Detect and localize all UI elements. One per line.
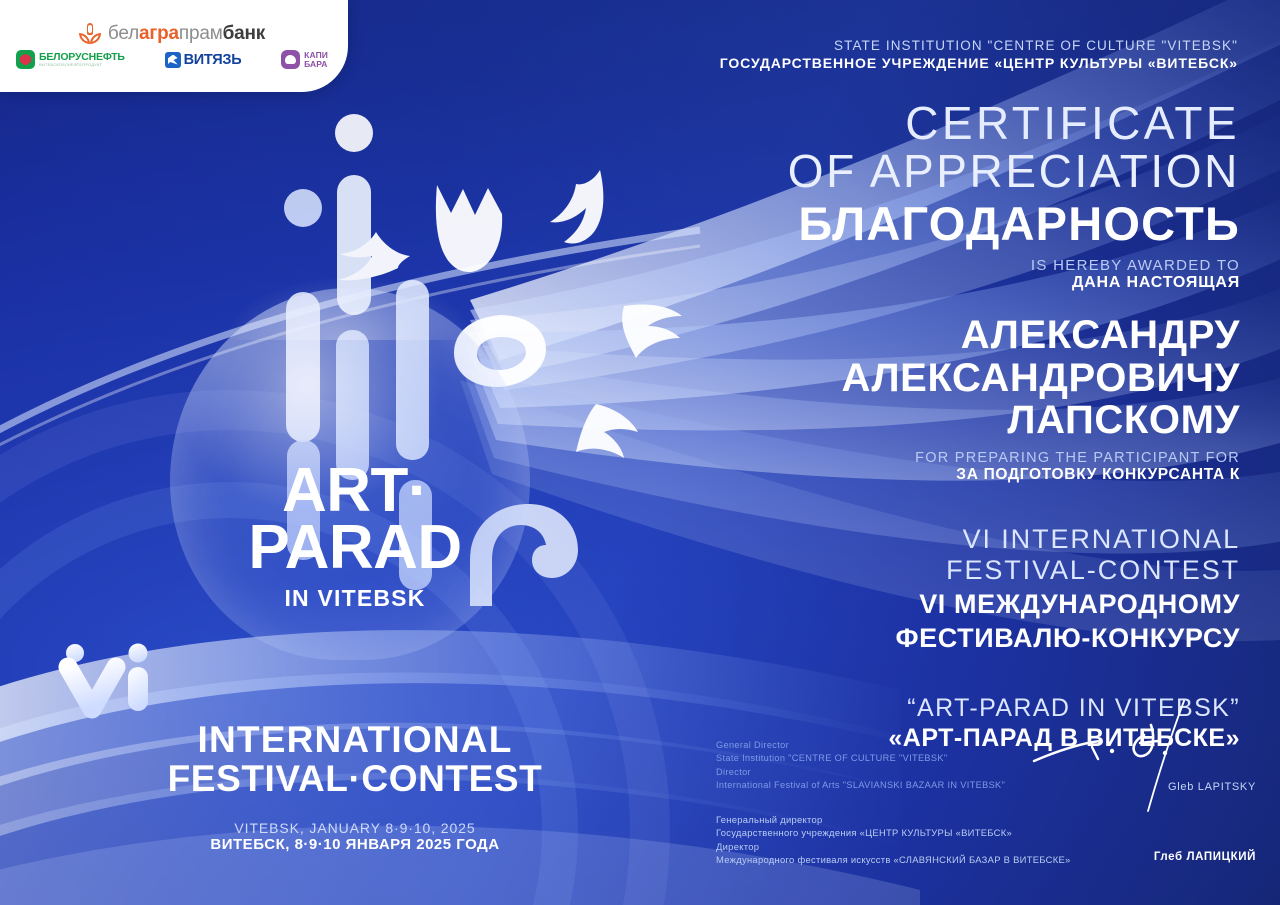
recipient-name-line1: АЛЕКСАНДРУ (600, 314, 1240, 356)
institution-name-en: STATE INSTITUTION "CENTRE OF CULTURE "VI… (720, 38, 1238, 55)
event-date-block: VITEBSK, JANUARY 8·9·10, 2025 ВИТЕБСК, 8… (120, 820, 590, 853)
recipient-name: АЛЕКСАНДРУ АЛЕКСАНДРОВИЧУ ЛАПСКОМУ (600, 314, 1240, 441)
festival-title-line1: INTERNATIONAL (120, 720, 590, 759)
festival-name-en: “ART-PARAD IN VITEBSK” (600, 693, 1240, 723)
signatory-title-en-line2: State Institution "CENTRE OF CULTURE "VI… (716, 752, 1256, 765)
wheat-leaf-icon (79, 23, 101, 45)
awarded-to-en: IS HEREBY AWARDED TO (600, 257, 1240, 274)
signatory-name-en: Gleb LAPITSKY (1168, 781, 1256, 793)
event-date-ru: ВИТЕБСК, 8·9·10 ЯНВАРЯ 2025 ГОДА (120, 836, 590, 853)
kapibara-icon (281, 50, 300, 69)
art-parad-logo: ART· PARAD IN VITEBSK (205, 462, 505, 612)
festival-ru-line2: ФЕСТИВАЛЮ-КОНКУРСУ (600, 623, 1240, 654)
festival-title-line2: FESTIVAL·CONTEST (120, 759, 590, 798)
signatory-name-ru: Глеб ЛАПИЦКИЙ (1154, 851, 1256, 863)
event-date-en: VITEBSK, JANUARY 8·9·10, 2025 (120, 820, 590, 836)
signatory-title-en-line1: General Director (716, 739, 1256, 752)
award-reason-ru: ЗА ПОДГОТОВКУ КОНКУРСАНТА К (600, 466, 1240, 484)
awarded-to-ru: ДАНА НАСТОЯЩАЯ (600, 274, 1240, 292)
vityaz-icon (165, 52, 181, 68)
balloon-highlight (225, 250, 475, 340)
signatory-title-en-line3: Director (716, 766, 1256, 779)
sponsor-belagroprombank: белаграпрамбанк (14, 23, 330, 45)
award-title-en-line2: OF APPRECIATION (600, 148, 1240, 196)
festival-en-line1: VI INTERNATIONAL (600, 524, 1240, 555)
belorusneft-icon (16, 50, 35, 69)
recipient-name-line2: АЛЕКСАНДРОВИЧУ (600, 357, 1240, 399)
sponsor-vityaz: ВИТЯЗЬ (165, 52, 242, 68)
sponsor-vityaz-label: ВИТЯЗЬ (184, 52, 242, 68)
festival-title-lockup: INTERNATIONAL FESTIVAL·CONTEST (120, 720, 590, 798)
roman-numeral-vi-icon (58, 643, 168, 721)
signatory-title-ru-line1: Генеральный директор (716, 813, 1256, 827)
award-title-en-line1: CERTIFICATE (600, 100, 1240, 148)
certificate-canvas: белаграпрамбанк БЕЛОРУСНЕФТЬ ВИТЕБСКОБЛН… (0, 0, 1280, 905)
institution-header: STATE INSTITUTION "CENTRE OF CULTURE "VI… (720, 38, 1238, 72)
institution-name-ru: ГОСУДАРСТВЕННОЕ УЧРЕЖДЕНИЕ «ЦЕНТР КУЛЬТУ… (720, 55, 1238, 73)
sponsor-kapibara: КАПИ БАРА (281, 50, 328, 69)
sponsor-belagroprombank-label: белаграпрамбанк (108, 23, 265, 45)
sponsor-belorusneft: БЕЛОРУСНЕФТЬ ВИТЕБСКОБЛНЕФТЕПРОДУКТ (16, 50, 125, 69)
logo-art: ART· (205, 462, 505, 519)
award-title-ru: БЛАГОДАРНОСТЬ (600, 198, 1240, 250)
festival-block: VI INTERNATIONAL FESTIVAL-CONTEST VI МЕЖ… (600, 524, 1240, 655)
award-reason-en: FOR PREPARING THE PARTICIPANT FOR (600, 450, 1240, 466)
signatory-title-ru-line2: Государственного учреждения «ЦЕНТР КУЛЬТ… (716, 826, 1256, 840)
logo-parad: PARAD (205, 519, 505, 577)
sponsor-belorusneft-label: БЕЛОРУСНЕФТЬ (39, 52, 125, 63)
sponsor-logos-panel: белаграпрамбанк БЕЛОРУСНЕФТЬ ВИТЕБСКОБЛН… (0, 0, 348, 92)
sponsor-belorusneft-sublabel: ВИТЕБСКОБЛНЕФТЕПРОДУКТ (39, 63, 125, 67)
signature-block: General Director State Institution "CENT… (716, 739, 1256, 867)
festival-en-line2: FESTIVAL-CONTEST (600, 555, 1240, 586)
recipient-name-line3: ЛАПСКОМУ (600, 399, 1240, 441)
festival-ru-line1: VI МЕЖДУНАРОДНОМУ (600, 589, 1240, 620)
award-content: CERTIFICATE OF APPRECIATION БЛАГОДАРНОСТ… (600, 100, 1240, 753)
sponsor-kapibara-label-line2: БАРА (304, 60, 328, 69)
logo-in-vitebsk: IN VITEBSK (205, 585, 505, 612)
